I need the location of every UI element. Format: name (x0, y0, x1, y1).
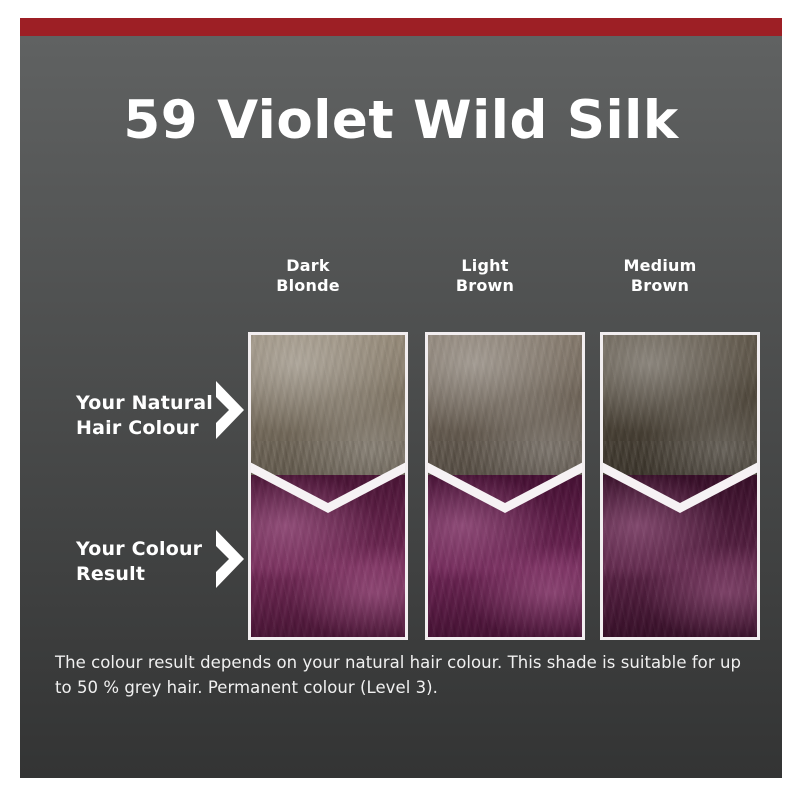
column-header-light-brown: Light Brown (405, 256, 565, 297)
arrow-right-icon (216, 530, 244, 588)
column-header-line1: Medium (624, 256, 697, 275)
result-hair-swatch (251, 475, 405, 640)
column-header-medium-brown: Medium Brown (580, 256, 740, 297)
product-pack-panel: 59 Violet Wild Silk Dark Blonde Light Br… (20, 18, 782, 778)
arrow-right-icon (216, 381, 244, 439)
result-hair-swatch (428, 475, 582, 640)
hair-sheen-overlay (428, 475, 582, 640)
column-header-line2: Brown (631, 276, 689, 295)
shade-panel-dark-blonde (248, 332, 408, 640)
shade-comparison-panels (248, 332, 770, 640)
column-header-line2: Brown (456, 276, 514, 295)
row-label-line2: Hair Colour (76, 417, 199, 439)
column-headers: Dark Blonde Light Brown Medium Brown (228, 256, 770, 308)
brand-color-band (20, 18, 782, 36)
column-header-line2: Blonde (276, 276, 340, 295)
page-title: 59 Violet Wild Silk (20, 93, 782, 149)
shade-panel-medium-brown (600, 332, 760, 640)
hair-sheen-overlay (251, 475, 405, 640)
row-label-line1: Your Natural (76, 392, 213, 414)
hair-sheen-overlay (603, 475, 757, 640)
disclaimer-text: The colour result depends on your natura… (55, 650, 755, 700)
column-header-dark-blonde: Dark Blonde (228, 256, 388, 297)
column-header-line1: Dark (286, 256, 329, 275)
row-label-line1: Your Colour (76, 538, 202, 560)
row-label-natural-hair-colour: Your Natural Hair Colour (76, 391, 216, 441)
row-label-line2: Result (76, 563, 145, 585)
column-header-line1: Light (461, 256, 508, 275)
shade-panel-light-brown (425, 332, 585, 640)
result-hair-swatch (603, 475, 757, 640)
row-label-colour-result: Your Colour Result (76, 537, 216, 587)
